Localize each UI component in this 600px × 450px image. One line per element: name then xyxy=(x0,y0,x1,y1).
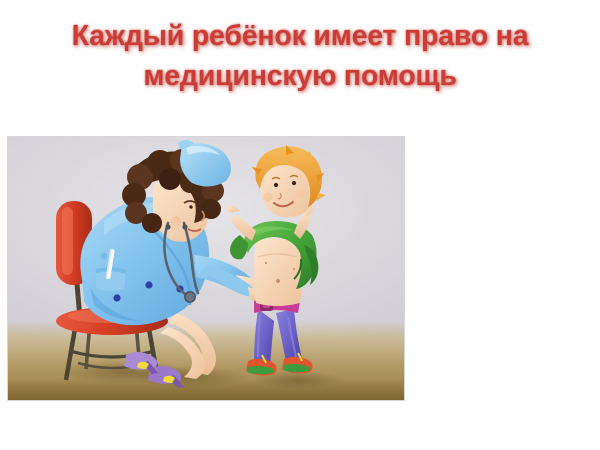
page-title: Каждый ребёнок имеет право на медицинску… xyxy=(0,18,600,95)
scene-figures xyxy=(8,137,404,400)
illustration-image: Медсестра со стетоскопом осматривает мал… xyxy=(8,137,404,400)
child-figure xyxy=(226,145,326,375)
nurse-figure xyxy=(80,140,279,388)
title-line-2: медицинскую помощь xyxy=(0,58,600,94)
slide-canvas: Каждый ребёнок имеет право на медицинску… xyxy=(0,0,600,450)
coat-button xyxy=(145,281,152,288)
title-line-1: Каждый ребёнок имеет право на xyxy=(0,18,600,54)
coat-button xyxy=(113,294,120,301)
child-torso xyxy=(254,238,302,306)
stethoscope-chestpiece xyxy=(185,292,195,302)
